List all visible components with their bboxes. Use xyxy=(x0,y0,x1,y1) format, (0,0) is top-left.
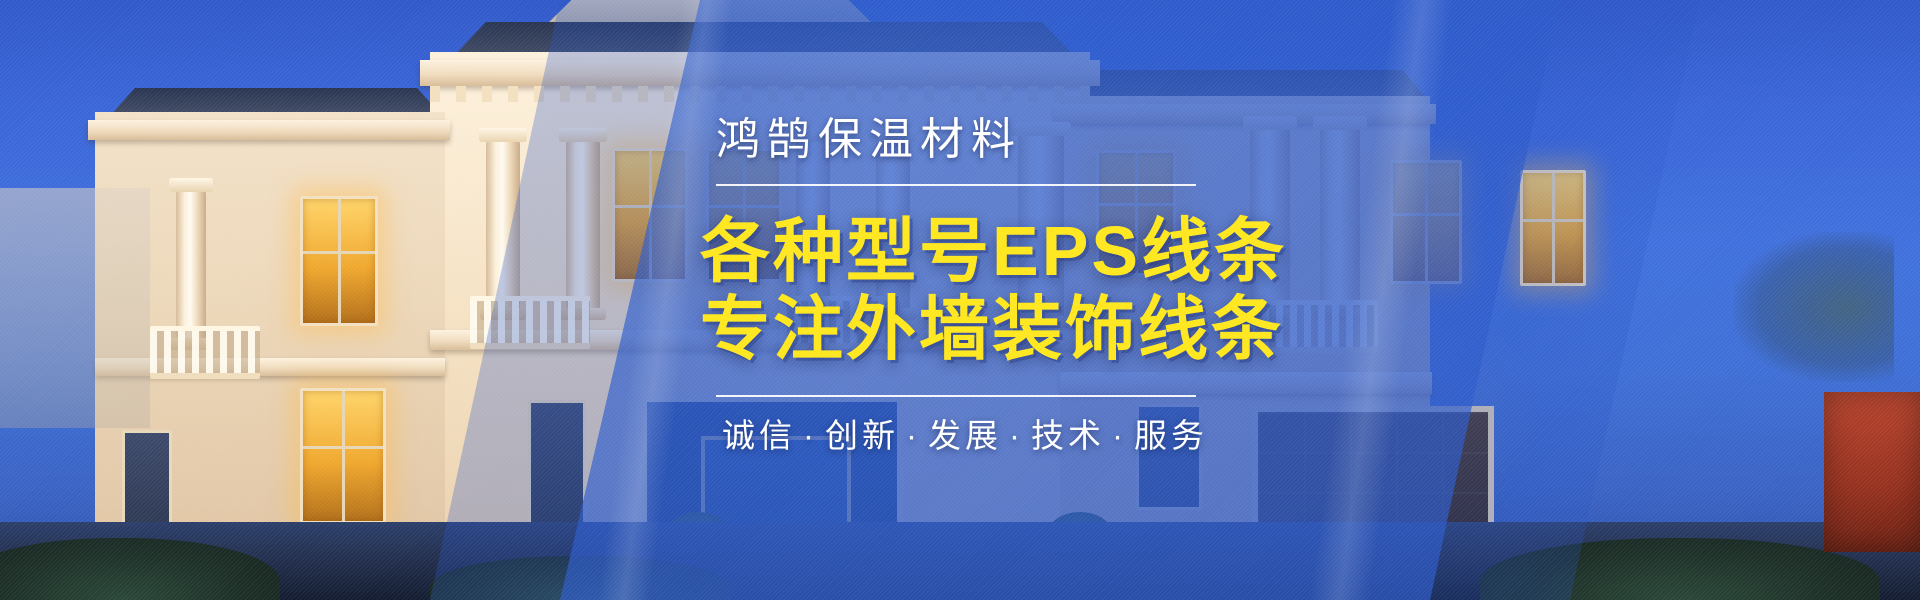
headline-line-2: 专注外墙装饰线条 xyxy=(700,290,1320,368)
left-cornice xyxy=(88,120,450,140)
tagline-item: 发展 xyxy=(928,417,1002,454)
hero-banner: 鸿鹄保温材料 各种型号EPS线条 专注外墙装饰线条 诚信·创新·发展·技术·服务 xyxy=(0,0,1920,600)
headline: 各种型号EPS线条 专注外墙装饰线条 xyxy=(700,212,1320,369)
banner-copy: 鸿鹄保温材料 各种型号EPS线条 专注外墙装饰线条 诚信·创新·发展·技术·服务 xyxy=(700,118,1320,452)
tagline-separator: · xyxy=(906,417,921,454)
tagline-separator: · xyxy=(803,417,818,454)
tagline-item: 服务 xyxy=(1134,417,1208,454)
tagline: 诚信·创新·发展·技术·服务 xyxy=(722,419,1320,452)
tagline-separator: · xyxy=(1009,417,1024,454)
headline-line-1: 各种型号EPS线条 xyxy=(700,212,1287,290)
tagline-separator: · xyxy=(1112,417,1127,454)
red-container-right xyxy=(1824,392,1920,552)
window-glow-left-a xyxy=(300,196,378,326)
brand-name: 鸿鹄保温材料 xyxy=(716,118,1320,162)
tree-right xyxy=(1734,232,1894,382)
column-8 xyxy=(176,190,206,340)
window-glow-left-b xyxy=(300,388,386,524)
neighbor-building-left xyxy=(0,188,150,428)
divider-bottom xyxy=(716,395,1196,397)
divider-top xyxy=(716,184,1196,186)
tagline-item: 技术 xyxy=(1031,417,1105,454)
tagline-item: 创新 xyxy=(825,417,899,454)
tagline-item: 诚信 xyxy=(722,417,796,454)
balustrade-leftwing xyxy=(150,326,260,379)
